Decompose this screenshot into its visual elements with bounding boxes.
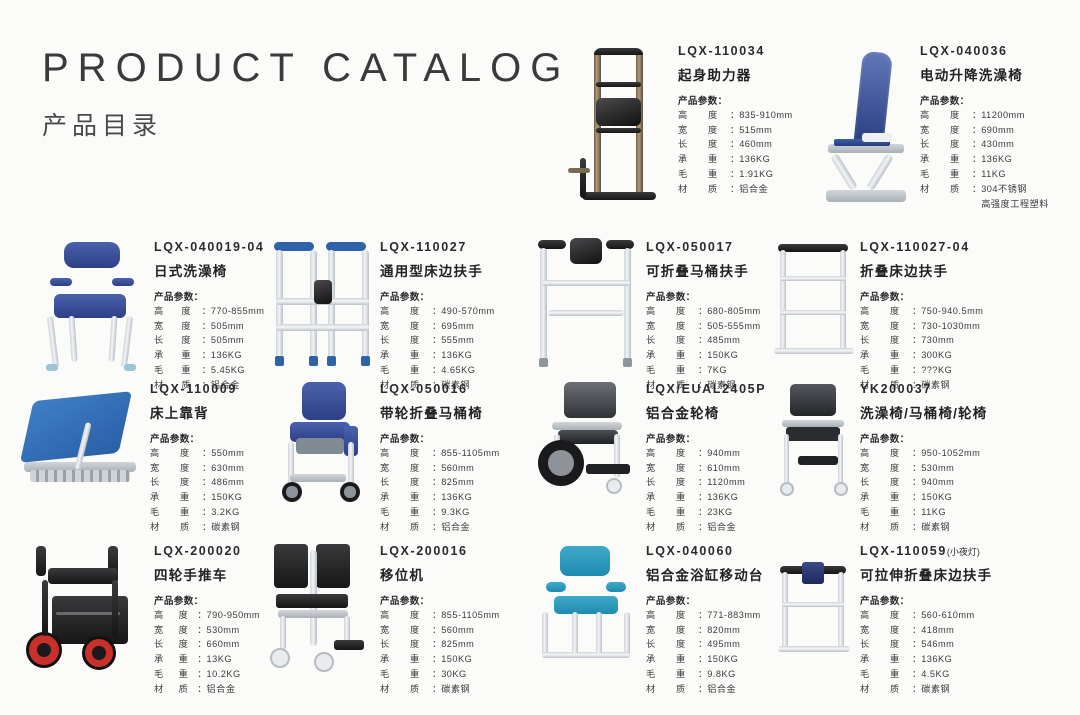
spec-row-gross: 毛重：11KG <box>860 505 980 520</box>
spec-row-height: 高度：790-950mm <box>154 608 260 623</box>
spec-row-gross: 毛重：1.91KG <box>678 167 793 182</box>
product-row-4: LQX-200020 四轮手推车 产品参数： 高度：790-950mm 宽度：5… <box>0 540 1080 697</box>
product-sku: LQX-200020 <box>154 544 260 560</box>
product-name: 通用型床边扶手 <box>380 260 528 280</box>
spec-row-height: 高度：680-805mm <box>646 304 761 319</box>
spec-row-gross: 毛重：7KG <box>646 363 761 378</box>
product-sku: LQX-050017 <box>646 240 768 256</box>
spec-row-load: 承重：150KG <box>150 490 244 505</box>
spec-header: 产品参数： <box>920 93 1072 107</box>
spec-row-height: 高度：750-940.5mm <box>860 304 983 319</box>
spec-row-height: 高度：770-855mm <box>154 304 264 319</box>
spec-row-height: 高度：771-883mm <box>646 608 761 623</box>
spec-row-load: 承重：136KG <box>380 490 500 505</box>
spec-header: 产品参数： <box>380 431 528 445</box>
spec-header: 产品参数： <box>380 289 528 303</box>
product-sku: LQX-110059(小夜灯) <box>860 544 1080 560</box>
spec-row-length: 长度：660mm <box>154 637 260 652</box>
spec-row-length: 长度：825mm <box>380 637 500 652</box>
spec-row-height: 高度：940mm <box>646 446 745 461</box>
spec-row-material: 材质：碳素钢 <box>380 682 500 697</box>
spec-row-height: 高度：560-610mm <box>860 608 975 623</box>
spec-row-gross: 毛重：5.45KG <box>154 363 264 378</box>
spec-row-material: 材质：碳素钢 <box>150 520 244 535</box>
spec-row-material: 材质：铝合金 <box>678 182 793 197</box>
spec-row-gross: 毛重：4.65KG <box>380 363 495 378</box>
product-sku: LQX-110009 <box>150 382 260 398</box>
spec-table: 高度：790-950mm 宽度：530mm 长度：660mm 承重：13KG 毛… <box>154 608 260 697</box>
spec-table: 高度：560-610mm 宽度：418mm 长度：546mm 承重：136KG … <box>860 608 975 697</box>
product-sku: LQX-110027-04 <box>860 240 1080 256</box>
product-image-lqx-040036 <box>810 40 920 215</box>
spec-row-width: 宽度：820mm <box>646 623 761 638</box>
product-info: LQX-200020 四轮手推车 产品参数： 高度：790-950mm 宽度：5… <box>154 540 260 697</box>
spec-row-load: 承重：136KG <box>860 652 975 667</box>
product-sku: LQX/EUAL2405P <box>646 382 768 398</box>
product-info: LQX-110059(小夜灯) 可拉伸折叠床边扶手 产品参数： 高度：560-6… <box>860 540 1080 697</box>
spec-row-gross: 毛重：30KG <box>380 667 500 682</box>
product-info: LQX-050016 带轮折叠马桶椅 产品参数： 高度：855-1105mm 宽… <box>380 378 528 535</box>
product-card[interactable]: LQX-110034 起身助力器 产品参数： 高度：835-910mm 宽度：5… <box>560 40 810 215</box>
spec-table: 高度：771-883mm 宽度：820mm 长度：495mm 承重：150KG … <box>646 608 761 697</box>
spec-row-gross: 毛重：3.2KG <box>150 505 244 520</box>
product-info: LQX-110027-04 折叠床边扶手 产品参数： 高度：750-940.5m… <box>860 236 1080 393</box>
spec-row-gross: 毛重：4.5KG <box>860 667 975 682</box>
spec-row-height: 高度：550mm <box>150 446 244 461</box>
product-sku: LQX-040060 <box>646 544 768 560</box>
spec-row-load: 承重：136KG <box>920 152 1049 167</box>
product-info: LQX-040060 铝合金浴缸移动台 产品参数： 高度：771-883mm 宽… <box>646 540 768 697</box>
product-row-2: LQX-040019-04 日式洗澡椅 产品参数： 高度：770-855mm 宽… <box>0 236 1080 393</box>
spec-row-gross: 毛重：???KG <box>860 363 983 378</box>
spec-row-width: 宽度：560mm <box>380 623 500 638</box>
product-info: LQX-110034 起身助力器 产品参数： 高度：835-910mm 宽度：5… <box>678 40 810 197</box>
spec-row-width: 宽度：730-1030mm <box>860 319 983 334</box>
product-card[interactable]: LQX-110027 通用型床边扶手 产品参数： 高度：490-570mm 宽度… <box>260 236 528 393</box>
product-name: 床上靠背 <box>150 402 260 422</box>
spec-row-gross: 毛重：11KG <box>920 167 1049 182</box>
spec-row-width: 宽度：695mm <box>380 319 495 334</box>
product-image-lqx-eual2405p <box>528 378 646 508</box>
spec-row-load: 承重：13KG <box>154 652 260 667</box>
product-sku: LQX-110027 <box>380 240 528 256</box>
spec-table: 高度：950-1052mm 宽度：530mm 长度：940mm 承重：150KG… <box>860 446 980 535</box>
spec-row-material: 材质：铝合金 <box>154 682 260 697</box>
product-sku: LQX-040036 <box>920 44 1072 60</box>
product-info: LQX/EUAL2405P 铝合金轮椅 产品参数： 高度：940mm 宽度：61… <box>646 378 768 535</box>
product-sku: LQX-040019-04 <box>154 240 264 256</box>
product-name: 四轮手推车 <box>154 564 260 584</box>
product-info: LQX-040036 电动升降洗澡椅 产品参数： 高度：11200mm 宽度：6… <box>920 40 1072 212</box>
spec-row-width: 宽度：630mm <box>150 461 244 476</box>
product-card[interactable]: LQX-050016 带轮折叠马桶椅 产品参数： 高度：855-1105mm 宽… <box>260 378 528 535</box>
spec-row-gross: 毛重：9.3KG <box>380 505 500 520</box>
spec-table: 高度：835-910mm 宽度：515mm 长度：460mm 承重：136KG … <box>678 108 793 197</box>
product-card[interactable]: LQX-110059(小夜灯) 可拉伸折叠床边扶手 产品参数： 高度：560-6… <box>768 540 1080 697</box>
spec-table: 高度：855-1105mm 宽度：560mm 长度：825mm 承重：136KG… <box>380 446 500 535</box>
product-image-lqx-050016 <box>260 378 380 508</box>
spec-row-length: 长度：730mm <box>860 333 983 348</box>
product-name: 洗澡椅/马桶椅/轮椅 <box>860 402 1080 422</box>
spec-row-gross: 毛重：10.2KG <box>154 667 260 682</box>
product-image-lqx-200020 <box>24 540 154 680</box>
spec-header: 产品参数： <box>646 431 768 445</box>
product-name: 铝合金浴缸移动台 <box>646 564 768 584</box>
spec-row-length: 长度：505mm <box>154 333 264 348</box>
spec-row-height: 高度：855-1105mm <box>380 608 500 623</box>
spec-row-load: 承重：150KG <box>860 490 980 505</box>
product-name: 铝合金轮椅 <box>646 402 768 422</box>
product-sku: LQX-110034 <box>678 44 810 60</box>
product-image-lqx-050017 <box>528 236 646 376</box>
product-info: YK200037 洗澡椅/马桶椅/轮椅 产品参数： 高度：950-1052mm … <box>860 378 1080 535</box>
spec-row-length: 长度：485mm <box>646 333 761 348</box>
spec-row-height: 高度：490-570mm <box>380 304 495 319</box>
product-name: 日式洗澡椅 <box>154 260 264 280</box>
product-card[interactable]: LQX-040019-04 日式洗澡椅 产品参数： 高度：770-855mm 宽… <box>0 236 260 393</box>
product-name: 起身助力器 <box>678 64 810 84</box>
spec-row-gross: 毛重：23KG <box>646 505 745 520</box>
product-name: 可拉伸折叠床边扶手 <box>860 564 1080 584</box>
product-name: 可折叠马桶扶手 <box>646 260 768 280</box>
spec-row-material: 材质：铝合金 <box>646 682 761 697</box>
spec-row-material: 材质：铝合金 <box>380 520 500 535</box>
product-row-3: LQX-110009 床上靠背 产品参数： 高度：550mm 宽度：630mm … <box>0 378 1080 535</box>
spec-row-load: 承重：136KG <box>154 348 264 363</box>
spec-header: 产品参数： <box>860 431 1080 445</box>
product-image-lqx-110034 <box>560 40 678 215</box>
spec-header: 产品参数： <box>860 289 1080 303</box>
spec-row-width: 宽度：505-555mm <box>646 319 761 334</box>
spec-row-load: 承重：150KG <box>646 652 761 667</box>
spec-header: 产品参数： <box>154 593 260 607</box>
spec-row-material: 材质：铝合金 <box>646 520 745 535</box>
spec-row-load: 承重：150KG <box>380 652 500 667</box>
spec-row-load: 承重：136KG <box>678 152 793 167</box>
product-image-lqx-200016 <box>260 540 380 680</box>
product-card[interactable]: LQX-040036 电动升降洗澡椅 产品参数： 高度：11200mm 宽度：6… <box>810 40 1072 215</box>
spec-table: 高度：550mm 宽度：630mm 长度：486mm 承重：150KG 毛重：3… <box>150 446 244 535</box>
product-image-yk200037 <box>768 378 860 508</box>
spec-row-length: 长度：430mm <box>920 137 1049 152</box>
product-card[interactable]: LQX-200020 四轮手推车 产品参数： 高度：790-950mm 宽度：5… <box>0 540 260 697</box>
product-name: 电动升降洗澡椅 <box>920 64 1072 84</box>
spec-table: 高度：11200mm 宽度：690mm 长度：430mm 承重：136KG 毛重… <box>920 108 1049 212</box>
spec-row-width: 宽度：505mm <box>154 319 264 334</box>
spec-row-height: 高度：950-1052mm <box>860 446 980 461</box>
spec-row-length: 长度：486mm <box>150 475 244 490</box>
spec-row-width: 宽度：690mm <box>920 123 1049 138</box>
product-card[interactable]: LQX-110009 床上靠背 产品参数： 高度：550mm 宽度：630mm … <box>0 378 260 535</box>
spec-row-length: 长度：555mm <box>380 333 495 348</box>
product-image-lqx-110027-04 <box>768 236 860 376</box>
product-image-lqx-040060 <box>528 540 646 680</box>
spec-header: 产品参数： <box>646 289 768 303</box>
spec-row-length: 长度：546mm <box>860 637 975 652</box>
spec-header: 产品参数： <box>380 593 528 607</box>
spec-row-height: 高度：855-1105mm <box>380 446 500 461</box>
spec-row-load: 承重：150KG <box>646 348 761 363</box>
spec-row-material: 材质：碳素钢 <box>860 520 980 535</box>
product-sku: LQX-050016 <box>380 382 528 398</box>
spec-row-length: 长度：460mm <box>678 137 793 152</box>
product-card[interactable]: LQX-050017 可折叠马桶扶手 产品参数： 高度：680-805mm 宽度… <box>528 236 768 393</box>
spec-table: 高度：940mm 宽度：610mm 长度：1120mm 承重：136KG 毛重：… <box>646 446 745 535</box>
spec-row-width: 宽度：515mm <box>678 123 793 138</box>
product-card[interactable]: LQX-040060 铝合金浴缸移动台 产品参数： 高度：771-883mm 宽… <box>528 540 768 697</box>
spec-row-material2: 高强度工程塑料 <box>920 197 1049 212</box>
product-info: LQX-110009 床上靠背 产品参数： 高度：550mm 宽度：630mm … <box>150 378 260 535</box>
spec-row-width: 宽度：560mm <box>380 461 500 476</box>
spec-row-material: 材质：碳素钢 <box>860 682 975 697</box>
spec-row-length: 长度：825mm <box>380 475 500 490</box>
spec-row-width: 宽度：418mm <box>860 623 975 638</box>
spec-row-load: 承重：136KG <box>646 490 745 505</box>
product-card[interactable]: LQX-110027-04 折叠床边扶手 产品参数： 高度：750-940.5m… <box>768 236 1080 393</box>
spec-header: 产品参数： <box>678 93 810 107</box>
spec-row-height: 高度：835-910mm <box>678 108 793 123</box>
product-image-lqx-110027 <box>260 236 380 376</box>
spec-row-width: 宽度：610mm <box>646 461 745 476</box>
product-name: 带轮折叠马桶椅 <box>380 402 528 422</box>
spec-row-load: 承重：300KG <box>860 348 983 363</box>
spec-row-load: 承重：136KG <box>380 348 495 363</box>
spec-row-width: 宽度：530mm <box>860 461 980 476</box>
spec-row-material: 材质：304不锈钢 <box>920 182 1049 197</box>
spec-row-length: 长度：495mm <box>646 637 761 652</box>
product-card[interactable]: LQX-200016 移位机 产品参数： 高度：855-1105mm 宽度：56… <box>260 540 528 697</box>
spec-header: 产品参数： <box>150 431 260 445</box>
spec-table: 高度：855-1105mm 宽度：560mm 长度：825mm 承重：150KG… <box>380 608 500 697</box>
product-card[interactable]: YK200037 洗澡椅/马桶椅/轮椅 产品参数： 高度：950-1052mm … <box>768 378 1080 535</box>
product-name: 移位机 <box>380 564 528 584</box>
product-image-lqx-110009 <box>20 378 150 508</box>
spec-row-height: 高度：11200mm <box>920 108 1049 123</box>
product-info: LQX-110027 通用型床边扶手 产品参数： 高度：490-570mm 宽度… <box>380 236 528 393</box>
spec-row-length: 长度：1120mm <box>646 475 745 490</box>
product-info: LQX-200016 移位机 产品参数： 高度：855-1105mm 宽度：56… <box>380 540 528 697</box>
spec-row-width: 宽度：530mm <box>154 623 260 638</box>
spec-row-gross: 毛重：9.8KG <box>646 667 761 682</box>
product-sku: LQX-200016 <box>380 544 528 560</box>
product-image-lqx-040019-04 <box>26 236 154 376</box>
product-image-lqx-110059 <box>768 540 860 680</box>
spec-header: 产品参数： <box>154 289 264 303</box>
spec-header: 产品参数： <box>860 593 1080 607</box>
spec-row-length: 长度：940mm <box>860 475 980 490</box>
product-row-1: LQX-110034 起身助力器 产品参数： 高度：835-910mm 宽度：5… <box>0 40 1080 215</box>
product-card[interactable]: LQX/EUAL2405P 铝合金轮椅 产品参数： 高度：940mm 宽度：61… <box>528 378 768 535</box>
product-sku: YK200037 <box>860 382 1080 398</box>
product-info: LQX-050017 可折叠马桶扶手 产品参数： 高度：680-805mm 宽度… <box>646 236 768 393</box>
product-info: LQX-040019-04 日式洗澡椅 产品参数： 高度：770-855mm 宽… <box>154 236 264 393</box>
product-name: 折叠床边扶手 <box>860 260 1080 280</box>
spec-header: 产品参数： <box>646 593 768 607</box>
